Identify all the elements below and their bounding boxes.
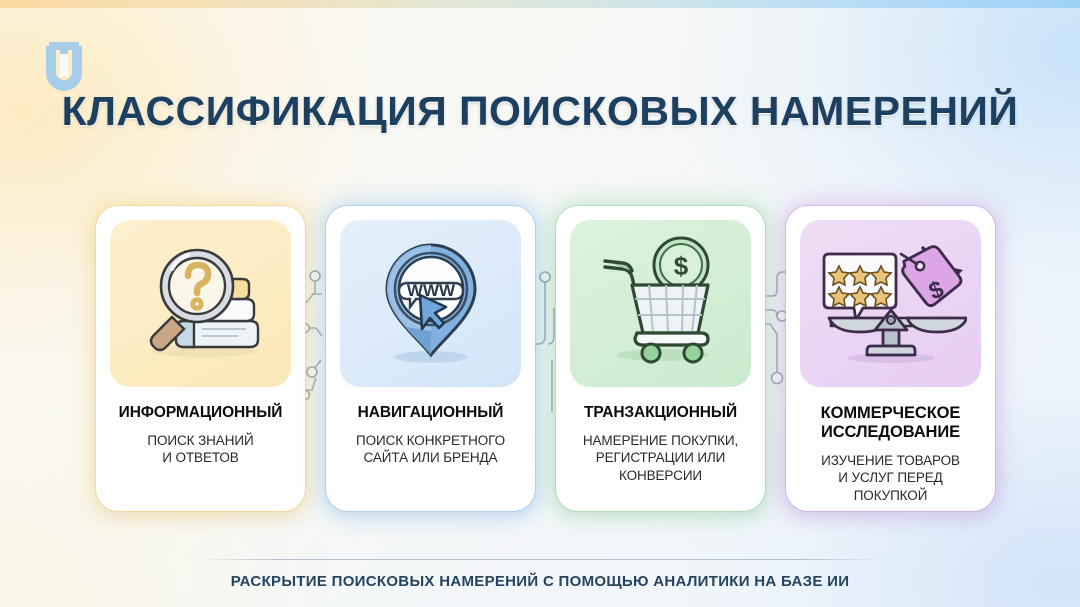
card-title-transactional: ТРАНЗАКЦИОННЫЙ [584,404,737,422]
intent-cards-row: ИНФОРМАЦИОННЫЙ ПОИСК ЗНАНИЙИ ОТВЕТОВ [96,206,996,511]
slide-canvas: КЛАССИФИКАЦИЯ ПОИСКОВЫХ НАМЕРЕНИЙ [0,0,1080,607]
svg-text:$: $ [673,251,688,281]
ut-monogram-logo [35,36,93,94]
card-subtitle-informational: ПОИСК ЗНАНИЙИ ОТВЕТОВ [147,432,253,467]
balance-scale-reviews-pricetag-icon: $ [815,232,967,375]
magnifier-question-books-icon [126,235,276,372]
card-subtitle-navigational: ПОИСК КОНКРЕТНОГОСАЙТА ИЛИ БРЕНДА [356,432,505,467]
footer-caption: РАСКРЫТИЕ ПОИСКОВЫХ НАМЕРЕНИЙ С ПОМОЩЬЮ … [0,573,1080,590]
icon-tile-informational [110,220,291,387]
card-subtitle-transactional: НАМЕРЕНИЕ ПОКУПКИ,РЕГИСТРАЦИИ ИЛИКОНВЕРС… [583,432,738,485]
card-subtitle-commercial-investigation: ИЗУЧЕНИЕ ТОВАРОВИ УСЛУГ ПЕРЕДПОКУПКОЙ [821,452,960,505]
card-commercial-investigation[interactable]: $ КОММЕРЧЕСКОЕИССЛЕДОВАНИЕ ИЗУЧ [786,206,995,511]
card-informational[interactable]: ИНФОРМАЦИОННЫЙ ПОИСК ЗНАНИЙИ ОТВЕТОВ [96,206,305,511]
footer-divider [196,559,884,560]
card-navigational[interactable]: WWW НАВИГАЦИОННЫЙ ПОИСК КОНКРЕТНОГОСАЙТА… [326,206,535,511]
card-title-informational: ИНФОРМАЦИОННЫЙ [119,404,283,422]
icon-tile-commercial-investigation: $ [800,220,981,387]
shopping-cart-dollar-coin-icon: $ [585,233,737,374]
card-title-commercial-investigation: КОММЕРЧЕСКОЕИССЛЕДОВАНИЕ [821,404,961,442]
icon-tile-navigational: WWW [340,220,521,387]
card-title-navigational: НАВИГАЦИОННЫЙ [358,404,504,422]
top-accent-bar [0,0,1080,8]
svg-text:WWW: WWW [406,281,455,300]
map-pin-www-cursor-icon: WWW [356,231,506,376]
icon-tile-transactional: $ [570,220,751,387]
card-transactional[interactable]: $ [556,206,765,511]
page-title: КЛАССИФИКАЦИЯ ПОИСКОВЫХ НАМЕРЕНИЙ [0,88,1080,135]
